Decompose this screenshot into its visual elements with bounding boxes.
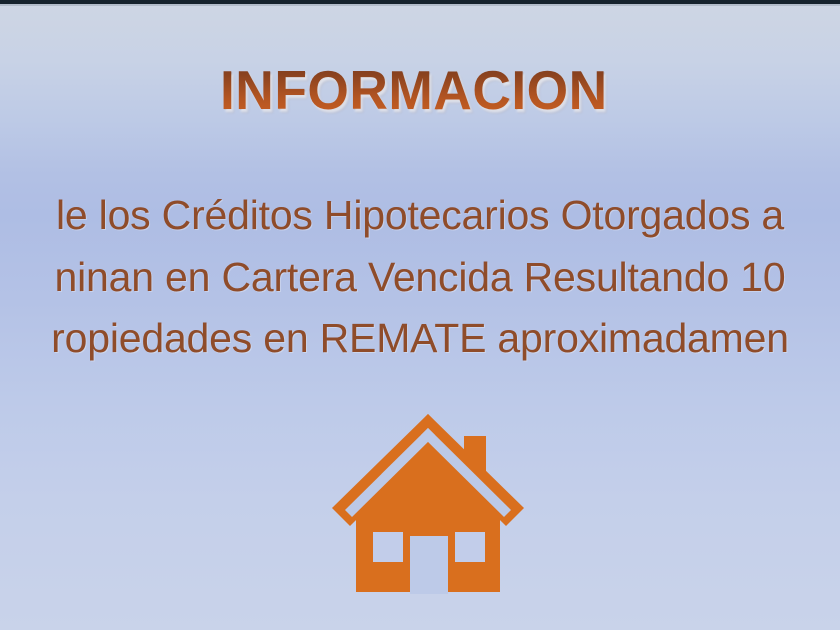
house-window-right <box>455 532 485 562</box>
top-edge-sheen <box>0 4 840 6</box>
house-window-left <box>373 532 403 562</box>
body-line: ropiedades en REMATE aproximadamen <box>51 316 789 360</box>
house-icon-graphic <box>328 414 534 596</box>
page-title: INFORMACION <box>220 57 608 123</box>
body-line: ninan en Cartera Vencida Resultando 10 <box>55 255 786 299</box>
slide-body-text: le los Créditos Hipotecarios Otorgados a… <box>0 183 840 383</box>
body-line: le los Créditos Hipotecarios Otorgados a <box>56 193 784 237</box>
slide-title-container: INFORMACION <box>0 57 840 123</box>
house-icon <box>328 414 534 596</box>
house-door <box>410 536 448 594</box>
presentation-slide: INFORMACION le los Créditos Hipotecarios… <box>0 0 840 630</box>
